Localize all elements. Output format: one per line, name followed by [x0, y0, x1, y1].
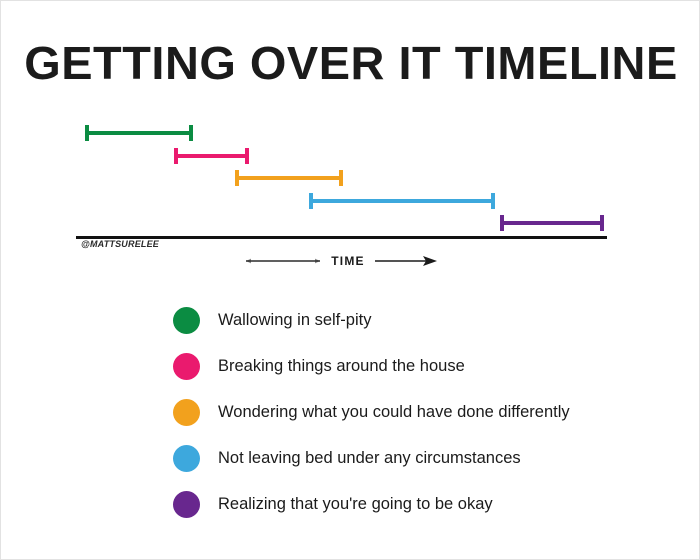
legend-item-label: Breaking things around the house	[218, 357, 465, 376]
time-axis-label-row: TIME	[241, 251, 441, 271]
legend: Wallowing in self-pityBreaking things ar…	[173, 297, 633, 527]
legend-color-dot	[173, 399, 200, 426]
infographic-poster: GETTING OVER IT TIMELINE @MATTSURELEE TI…	[0, 0, 700, 560]
legend-color-dot	[173, 445, 200, 472]
timeline-bar-cap-right	[600, 215, 604, 231]
time-axis-label: TIME	[331, 254, 364, 268]
legend-color-dot	[173, 307, 200, 334]
legend-color-dot	[173, 491, 200, 518]
timeline-bar-cap-left	[174, 148, 178, 164]
timeline-bar-cap-left	[500, 215, 504, 231]
timeline-bar	[235, 176, 343, 180]
timeline-bar	[85, 131, 193, 135]
legend-item: Realizing that you're going to be okay	[173, 481, 633, 527]
timeline-bar-cap-right	[245, 148, 249, 164]
legend-item: Wondering what you could have done diffe…	[173, 389, 633, 435]
legend-item-label: Realizing that you're going to be okay	[218, 495, 493, 514]
timeline-bar-cap-left	[309, 193, 313, 209]
timeline-bar-cap-left	[235, 170, 239, 186]
arrow-right-icon	[374, 254, 438, 268]
timeline-bar	[174, 154, 249, 158]
timeline-bar	[309, 199, 495, 203]
timeline-bar-cap-left	[85, 125, 89, 141]
legend-item-label: Not leaving bed under any circumstances	[218, 449, 521, 468]
timeline-bar-cap-right	[339, 170, 343, 186]
timeline-bar	[500, 221, 604, 225]
legend-item: Wallowing in self-pity	[173, 297, 633, 343]
legend-color-dot	[173, 353, 200, 380]
author-handle: @MATTSURELEE	[81, 239, 159, 249]
legend-item-label: Wallowing in self-pity	[218, 311, 371, 330]
legend-item: Not leaving bed under any circumstances	[173, 435, 633, 481]
arrow-left-line-icon	[244, 255, 322, 267]
legend-item: Breaking things around the house	[173, 343, 633, 389]
legend-item-label: Wondering what you could have done diffe…	[218, 403, 570, 422]
timeline-bar-cap-right	[189, 125, 193, 141]
timeline-bar-cap-right	[491, 193, 495, 209]
